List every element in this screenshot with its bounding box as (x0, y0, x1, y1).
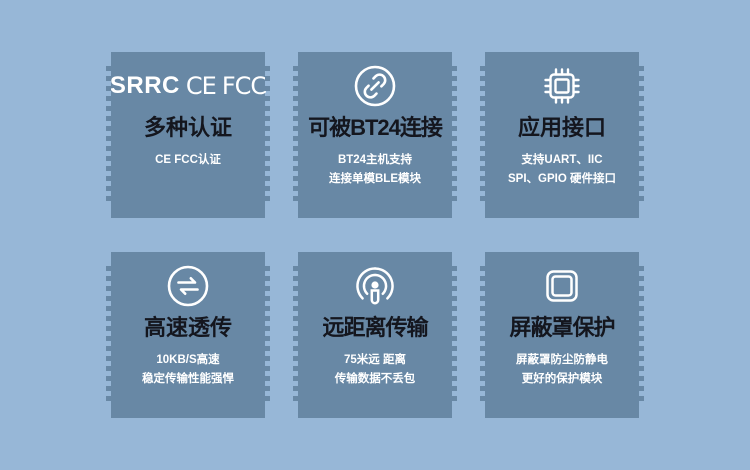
certification-marks: SRRC CE FCC (110, 74, 266, 98)
card-subtitle-line: SPI、GPIO 硬件接口 (508, 170, 616, 189)
card-title: 远距离传输 (322, 316, 427, 340)
card-icon-area (298, 52, 452, 114)
card-title: 多种认证 (144, 116, 232, 140)
card-serrated-edge-left (106, 266, 111, 404)
card-icon-area (298, 252, 452, 314)
card-serrated-edge-right (452, 266, 457, 404)
card-serrated-edge-left (293, 66, 298, 204)
card-subtitle: CE FCC认证 (155, 151, 221, 170)
card-title: 可被BT24连接 (308, 116, 442, 140)
shield-can-square-icon (539, 263, 585, 309)
link-chain-circle-icon (352, 63, 398, 109)
card-serrated-edge-right (639, 66, 644, 204)
feature-card-certification[interactable]: SRRC CE FCC 多种认证 CE FCC认证 (111, 52, 265, 218)
feature-card-bt24-connect[interactable]: 可被BT24连接 BT24主机支持 连接单模BLE模块 (298, 52, 452, 218)
feature-card-shield-protection[interactable]: 屏蔽罩保护 屏蔽罩防尘防静电 更好的保护模块 (485, 252, 639, 418)
bidirectional-transfer-circle-icon (165, 263, 211, 309)
card-subtitle-line: 更好的保护模块 (516, 370, 608, 389)
card-subtitle-line: 传输数据不丢包 (335, 370, 416, 389)
card-subtitle-line: 稳定传输性能强悍 (142, 370, 234, 389)
card-subtitle: BT24主机支持 连接单模BLE模块 (329, 151, 421, 189)
card-subtitle-line: BT24主机支持 (329, 151, 421, 170)
card-icon-area (485, 52, 639, 114)
srrc-mark: SRRC (110, 74, 180, 98)
card-icon-area (485, 252, 639, 314)
card-serrated-edge-left (293, 266, 298, 404)
chip-ic-icon (539, 63, 585, 109)
card-subtitle: 10KB/S高速 稳定传输性能强悍 (142, 351, 234, 389)
card-subtitle-line: 屏蔽罩防尘防静电 (516, 351, 608, 370)
card-serrated-edge-right (452, 66, 457, 204)
card-subtitle-line: 支持UART、IIC (508, 151, 616, 170)
card-serrated-edge-right (639, 266, 644, 404)
card-icon-area: SRRC CE FCC (111, 52, 265, 114)
broadcast-signal-icon (352, 263, 398, 309)
feature-card-grid: SRRC CE FCC 多种认证 CE FCC认证 可被BT24连接 BT24主… (111, 52, 639, 418)
card-title: 屏蔽罩保护 (509, 316, 614, 340)
card-serrated-edge-left (480, 266, 485, 404)
card-serrated-edge-right (265, 66, 270, 204)
card-title: 应用接口 (518, 116, 606, 140)
feature-card-high-speed-transfer[interactable]: 高速透传 10KB/S高速 稳定传输性能强悍 (111, 252, 265, 418)
feature-card-application-interface[interactable]: 应用接口 支持UART、IIC SPI、GPIO 硬件接口 (485, 52, 639, 218)
card-subtitle-line: 连接单模BLE模块 (329, 170, 421, 189)
ce-mark: CE (186, 74, 216, 98)
card-serrated-edge-left (480, 66, 485, 204)
card-serrated-edge-right (265, 266, 270, 404)
card-subtitle-line: 75米远 距离 (335, 351, 416, 370)
card-icon-area (111, 252, 265, 314)
card-subtitle: 75米远 距离 传输数据不丢包 (335, 351, 416, 389)
card-subtitle: 屏蔽罩防尘防静电 更好的保护模块 (516, 351, 608, 389)
feature-card-long-range[interactable]: 远距离传输 75米远 距离 传输数据不丢包 (298, 252, 452, 418)
card-serrated-edge-left (106, 66, 111, 204)
fcc-mark: FCC (222, 74, 266, 98)
card-title: 高速透传 (144, 316, 232, 340)
card-subtitle: 支持UART、IIC SPI、GPIO 硬件接口 (508, 151, 616, 189)
card-subtitle-line: 10KB/S高速 (142, 351, 234, 370)
card-subtitle-line: CE FCC认证 (155, 151, 221, 170)
